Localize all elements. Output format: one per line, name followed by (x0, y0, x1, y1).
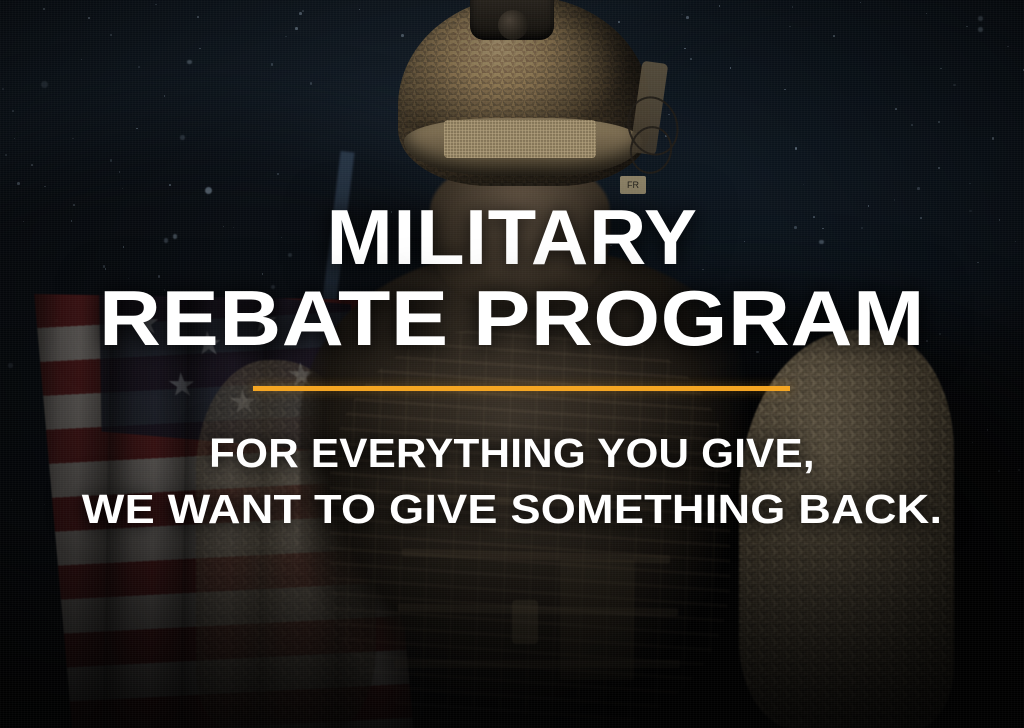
orange-divider (253, 386, 790, 391)
headline-line-1: MILITARY (0, 200, 1024, 275)
military-rebate-program-banner: FR MILITARY REBATE PROGRAM FOR EVERYTHIN… (0, 0, 1024, 728)
banner-content: MILITARY REBATE PROGRAM FOR EVERYTHING Y… (0, 0, 1024, 728)
headline-line-2: REBATE PROGRAM (0, 281, 1024, 356)
tagline-line-1: FOR EVERYTHING YOU GIVE, (0, 433, 1024, 474)
tagline-line-2: WE WANT TO GIVE SOMETHING BACK. (0, 489, 1024, 530)
